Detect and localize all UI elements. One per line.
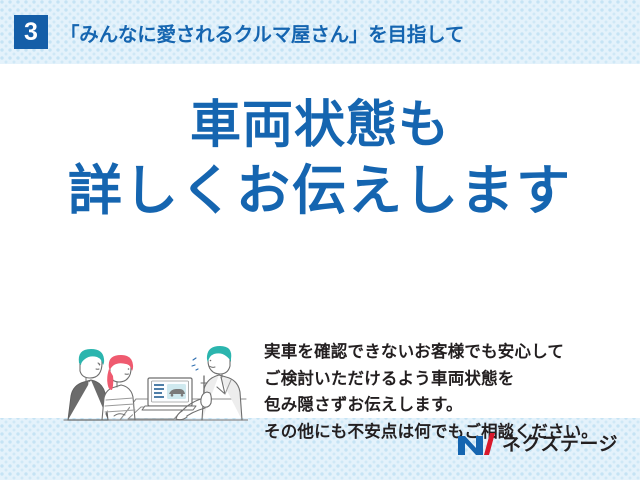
headline-line-1: 車両状態も: [0, 92, 640, 157]
page-title: 車両状態も 詳しくお伝えします: [0, 92, 640, 226]
nextage-n-mark-icon: [457, 431, 495, 457]
body-copy-line-1: 実車を確認できないお客様でも安心して: [264, 339, 620, 366]
promo-slide: 3 「みんなに愛されるクルマ屋さん」を目指して 車両状態も 詳しくお伝えします: [0, 0, 640, 480]
headline-line-2: 詳しくお伝えします: [0, 157, 640, 226]
step-number-badge: 3: [14, 15, 48, 49]
lower-row: 実車を確認できないお客様でも安心して ご検討いただけるよう車両状態を 包み隠さず…: [0, 276, 640, 406]
body-copy-line-2: ご検討いただけるよう車両状態を: [264, 366, 620, 393]
header-title: 「みんなに愛されるクルマ屋さん」を目指して: [60, 18, 464, 47]
body-copy-line-3: 包み隠さずお伝えします。: [264, 392, 620, 419]
brand-name: ネクステージ: [502, 435, 618, 454]
content-card: 車両状態も 詳しくお伝えします: [0, 64, 640, 418]
brand-logo: ネクステージ: [457, 430, 618, 458]
footer: ネクステージ: [0, 418, 640, 480]
header-band: 3 「みんなに愛されるクルマ屋さん」を目指して: [0, 0, 640, 64]
